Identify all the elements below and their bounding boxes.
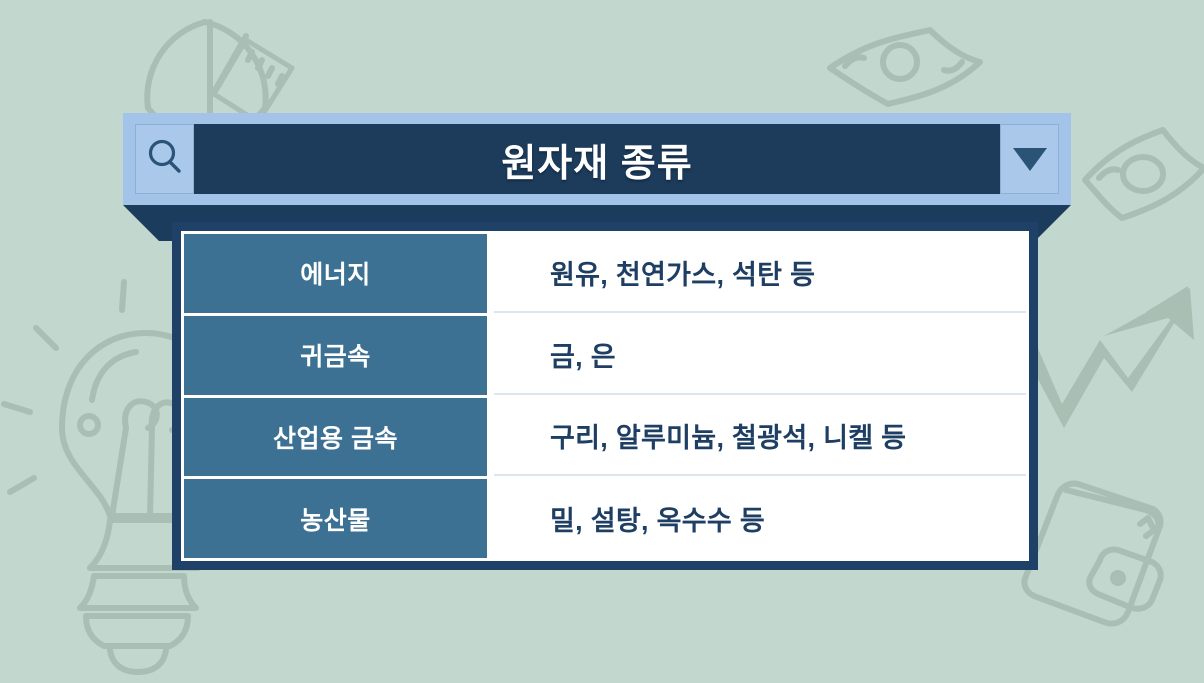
table-row: 에너지 원유, 천연가스, 석탄 등 (184, 234, 1026, 313)
search-icon (145, 137, 185, 182)
banknote-doodle (830, 30, 980, 104)
column-gap (487, 316, 494, 395)
category-label-precious-metals: 귀금속 (184, 316, 487, 395)
column-gap (487, 234, 494, 313)
column-gap (487, 479, 494, 558)
table-body: 에너지 원유, 천연가스, 석탄 등 귀금속 금, 은 산업용 금속 구리, 알… (181, 231, 1029, 561)
search-bar-shadow-right (1035, 205, 1071, 241)
search-bar[interactable]: 원자재 종류 (123, 113, 1071, 205)
search-input[interactable]: 원자재 종류 (194, 124, 1000, 194)
banknote-doodle-2 (1085, 130, 1204, 218)
category-items-industrial-metals: 구리, 알루미늄, 철광석, 니켈 등 (494, 398, 1026, 477)
category-label-energy: 에너지 (184, 234, 487, 313)
dropdown-button[interactable] (1000, 124, 1059, 194)
chevron-down-icon (1013, 148, 1047, 171)
search-bar-shadow-left (123, 205, 159, 241)
category-items-energy: 원유, 천연가스, 석탄 등 (494, 234, 1026, 313)
category-label-agriculture: 농산물 (184, 479, 487, 558)
table-row: 산업용 금속 구리, 알루미늄, 철광석, 니켈 등 (184, 398, 1026, 477)
trend-arrow-doodle (1016, 286, 1194, 428)
column-gap (487, 398, 494, 477)
category-items-agriculture: 밀, 설탕, 옥수수 등 (494, 479, 1026, 558)
table-row: 귀금속 금, 은 (184, 316, 1026, 395)
commodity-table: 에너지 원유, 천연가스, 석탄 등 귀금속 금, 은 산업용 금속 구리, 알… (172, 222, 1038, 570)
category-items-precious-metals: 금, 은 (494, 316, 1026, 395)
table-row: 농산물 밀, 설탕, 옥수수 등 (184, 479, 1026, 558)
page-title: 원자재 종류 (501, 132, 692, 187)
wallet-doodle (1024, 483, 1160, 623)
category-label-industrial-metals: 산업용 금속 (184, 398, 487, 477)
search-button[interactable] (135, 124, 194, 194)
